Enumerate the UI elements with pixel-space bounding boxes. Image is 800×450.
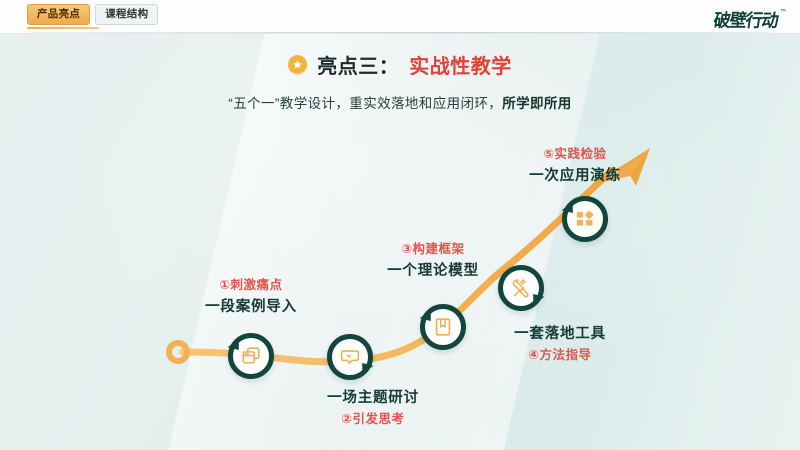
tab-product-highlights[interactable]: 产品亮点 bbox=[27, 4, 90, 25]
book-icon bbox=[432, 316, 454, 338]
step-node-2[interactable] bbox=[327, 334, 373, 380]
top-header-bar: 产品亮点 课程结构 bbox=[0, 0, 800, 34]
step-name-2: 一场主题研讨 bbox=[307, 386, 439, 407]
slide-canvas: 产品亮点 课程结构 破壁行动 ™ 亮点三： 实战性教学 “五个一”教学设计，重实… bbox=[0, 0, 800, 450]
step-node-1[interactable] bbox=[228, 333, 274, 379]
page-subtitle-part1: “五个一”教学设计，重实效落地和应用闭环， bbox=[228, 96, 502, 111]
step-tag-3: ③构建框架 bbox=[359, 238, 507, 257]
step-name-3: 一个理论模型 bbox=[359, 259, 507, 280]
cards-icon bbox=[240, 345, 262, 367]
step-node-5[interactable] bbox=[562, 196, 608, 242]
step-name-5: 一次应用演练 bbox=[500, 164, 650, 185]
brand-logo-text: 破壁行动 bbox=[712, 5, 780, 31]
page-title: 亮点三： 实战性教学 bbox=[0, 50, 800, 79]
step-label-5: ⑤实践检验 一次应用演练 bbox=[500, 143, 650, 185]
step-label-2: 一场主题研讨 ②引发思考 bbox=[307, 386, 439, 427]
step-tag-1: ①刺激痛点 bbox=[183, 274, 319, 293]
blocks-icon bbox=[574, 208, 596, 230]
step-label-1: ①刺激痛点 一段案例导入 bbox=[183, 274, 319, 316]
step-tag-2: ②引发思考 bbox=[307, 408, 439, 427]
step-name-4: 一套落地工具 bbox=[494, 322, 626, 343]
star-icon bbox=[288, 55, 307, 74]
page-title-prefix: 亮点三： bbox=[317, 50, 399, 79]
step-label-3: ③构建框架 一个理论模型 bbox=[359, 238, 507, 280]
step-tag-5: ⑤实践检验 bbox=[500, 143, 650, 162]
step-name-1: 一段案例导入 bbox=[183, 295, 319, 316]
brand-logo: 破壁行动 ™ bbox=[714, 5, 786, 31]
chat-icon bbox=[339, 346, 361, 368]
trademark-icon: ™ bbox=[780, 9, 786, 15]
step-node-3[interactable] bbox=[420, 304, 466, 350]
page-subtitle: “五个一”教学设计，重实效落地和应用闭环，所学即所用 bbox=[0, 92, 800, 112]
page-subtitle-part2: 所学即所用 bbox=[502, 96, 572, 111]
tab-bar: 产品亮点 课程结构 bbox=[27, 4, 158, 25]
tab-course-structure[interactable]: 课程结构 bbox=[95, 4, 158, 25]
tools-icon bbox=[510, 277, 532, 299]
page-title-accent: 实战性教学 bbox=[409, 50, 512, 79]
active-tab-underline bbox=[27, 27, 99, 29]
step-label-4: 一套落地工具 ④方法指导 bbox=[494, 322, 626, 363]
header-divider-line bbox=[30, 32, 770, 33]
step-tag-4: ④方法指导 bbox=[494, 344, 626, 363]
